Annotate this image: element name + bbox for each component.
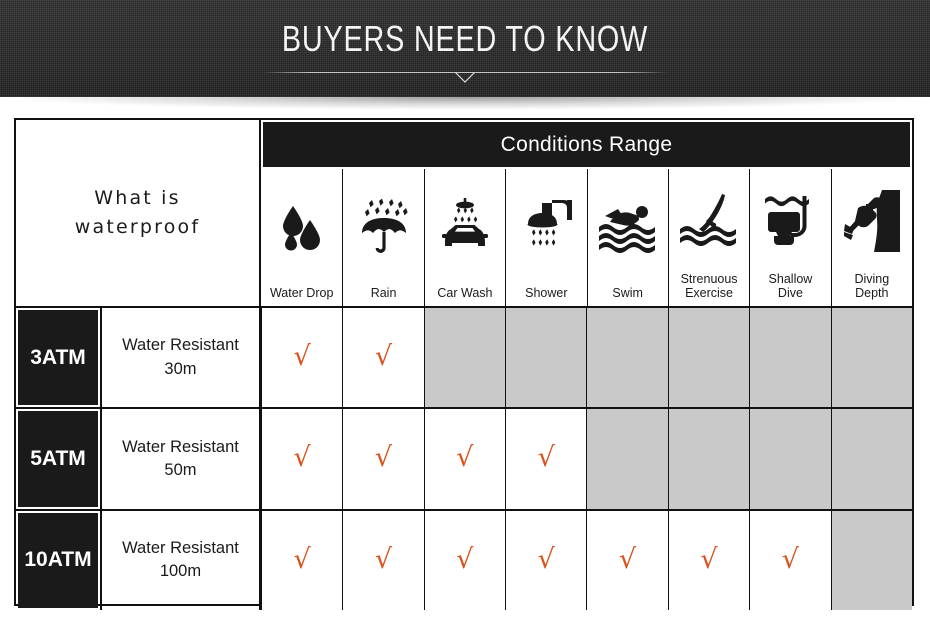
cell-3atm-diving-depth bbox=[831, 308, 912, 407]
row-header-line-2: waterproof bbox=[75, 216, 201, 238]
banner-shadow bbox=[0, 97, 930, 113]
cell-5atm-strenuous-exercise bbox=[668, 409, 749, 508]
cell-3atm-shallow-dive bbox=[749, 308, 830, 407]
resistance-description: Water Resistant 50m bbox=[100, 409, 261, 508]
check-icon: √ bbox=[294, 546, 311, 573]
column-header-shallow-dive: Shallow Dive bbox=[749, 169, 830, 306]
column-label-line-1: Water Drop bbox=[270, 286, 333, 300]
row-header-title-cell: What is waterproof bbox=[16, 120, 261, 306]
check-icon: √ bbox=[375, 343, 392, 370]
column-label-line-2: Dive bbox=[778, 286, 803, 300]
column-header-rain: Rain bbox=[342, 169, 423, 306]
column-label: Water Drop bbox=[270, 286, 333, 300]
cell-3atm-shower bbox=[505, 308, 586, 407]
cell-3atm-water-drop: √ bbox=[261, 308, 342, 407]
resistance-line-2: 100m bbox=[160, 562, 201, 580]
car-wash-icon bbox=[425, 169, 505, 286]
column-label-line-2: Depth bbox=[855, 286, 888, 300]
cell-10atm-shallow-dive: √ bbox=[749, 511, 830, 610]
row-header-line-1: What is bbox=[94, 187, 181, 209]
check-icon: √ bbox=[456, 546, 473, 573]
cell-5atm-diving-depth bbox=[831, 409, 912, 508]
water-drops-icon bbox=[261, 169, 342, 286]
cell-10atm-rain: √ bbox=[342, 511, 423, 610]
table-header: What is waterproof Conditions Range Wate… bbox=[16, 120, 912, 306]
column-header-diving-depth: Diving Depth bbox=[831, 169, 912, 306]
column-label-line-1: Rain bbox=[371, 286, 397, 300]
condition-columns: Water Drop bbox=[261, 169, 912, 306]
check-icon: √ bbox=[294, 444, 311, 471]
column-label: Swim bbox=[612, 286, 643, 300]
resistance-line-2: 50m bbox=[164, 461, 196, 479]
column-label: Diving Depth bbox=[854, 272, 889, 300]
rating-badge: 10ATM bbox=[18, 513, 98, 608]
cell-10atm-strenuous-exercise: √ bbox=[668, 511, 749, 610]
page-title: BUYERS NEED TO KNOW bbox=[93, 18, 837, 60]
column-label: Car Wash bbox=[437, 286, 492, 300]
column-label-line-2: Exercise bbox=[685, 286, 733, 300]
column-label-line-1: Diving bbox=[854, 272, 889, 286]
cell-5atm-water-drop: √ bbox=[261, 409, 342, 508]
cell-5atm-shallow-dive bbox=[749, 409, 830, 508]
resistance-line-1: Water Resistant bbox=[122, 438, 239, 456]
column-label-line-1: Shallow bbox=[769, 272, 813, 286]
check-icon: √ bbox=[538, 444, 555, 471]
rating-badge: 3ATM bbox=[18, 310, 98, 405]
cell-3atm-swim bbox=[586, 308, 667, 407]
cell-5atm-swim bbox=[586, 409, 667, 508]
page-banner: BUYERS NEED TO KNOW bbox=[0, 0, 930, 97]
cell-3atm-rain: √ bbox=[342, 308, 423, 407]
column-label-line-1: Strenuous bbox=[681, 272, 738, 286]
check-icon: √ bbox=[375, 546, 392, 573]
check-icon: √ bbox=[538, 546, 555, 573]
cell-5atm-shower: √ bbox=[505, 409, 586, 508]
cell-10atm-shower: √ bbox=[505, 511, 586, 610]
resistance-description: Water Resistant 100m bbox=[100, 511, 261, 610]
cell-10atm-diving-depth bbox=[831, 511, 912, 610]
cell-10atm-water-drop: √ bbox=[261, 511, 342, 610]
column-header-shower: Shower bbox=[505, 169, 586, 306]
resistance-line-1: Water Resistant bbox=[122, 336, 239, 354]
table-row: 3ATM Water Resistant 30m √ √ bbox=[16, 306, 912, 407]
scuba-diver-icon bbox=[832, 169, 912, 272]
waterproof-table: What is waterproof Conditions Range Wate… bbox=[14, 118, 914, 606]
column-label-line-1: Swim bbox=[612, 286, 643, 300]
cell-3atm-car-wash bbox=[424, 308, 505, 407]
chevron-down-icon bbox=[455, 72, 475, 83]
diving-swimmer-icon bbox=[669, 169, 749, 272]
check-icon: √ bbox=[619, 546, 636, 573]
check-icon: √ bbox=[700, 546, 717, 573]
column-header-strenuous-exercise: Strenuous Exercise bbox=[668, 169, 749, 306]
umbrella-rain-icon bbox=[343, 169, 423, 286]
column-header-water-drop: Water Drop bbox=[261, 169, 342, 306]
conditions-range-label: Conditions Range bbox=[501, 133, 673, 157]
check-icon: √ bbox=[782, 546, 799, 573]
snorkel-mask-icon bbox=[750, 169, 830, 272]
resistance-line-2: 30m bbox=[164, 360, 196, 378]
rating-badge: 5ATM bbox=[18, 411, 98, 506]
column-label: Shower bbox=[525, 286, 567, 300]
check-icon: √ bbox=[456, 444, 473, 471]
check-icon: √ bbox=[375, 444, 392, 471]
column-label-line-1: Shower bbox=[525, 286, 567, 300]
rating-cell: 10ATM bbox=[16, 511, 100, 610]
cell-10atm-car-wash: √ bbox=[424, 511, 505, 610]
table-body: 3ATM Water Resistant 30m √ √ 5ATM bbox=[16, 306, 912, 604]
resistance-line-1: Water Resistant bbox=[122, 539, 239, 557]
cell-5atm-car-wash: √ bbox=[424, 409, 505, 508]
table-row: 10ATM Water Resistant 100m √ √ √ √ √ √ √ bbox=[16, 509, 912, 610]
cell-5atm-rain: √ bbox=[342, 409, 423, 508]
column-label: Strenuous Exercise bbox=[681, 272, 738, 300]
check-icon: √ bbox=[294, 343, 311, 370]
column-header-swim: Swim bbox=[587, 169, 668, 306]
table-row: 5ATM Water Resistant 50m √ √ √ √ bbox=[16, 407, 912, 508]
column-header-car-wash: Car Wash bbox=[424, 169, 505, 306]
column-label-line-1: Car Wash bbox=[437, 286, 492, 300]
shower-head-icon bbox=[506, 169, 586, 286]
swimmer-icon bbox=[588, 169, 668, 286]
column-label: Rain bbox=[371, 286, 397, 300]
rating-cell: 5ATM bbox=[16, 409, 100, 508]
cell-3atm-strenuous-exercise bbox=[668, 308, 749, 407]
cell-10atm-swim: √ bbox=[586, 511, 667, 610]
conditions-range-header: Conditions Range bbox=[261, 120, 912, 169]
column-label: Shallow Dive bbox=[769, 272, 813, 300]
resistance-description: Water Resistant 30m bbox=[100, 308, 261, 407]
rating-cell: 3ATM bbox=[16, 308, 100, 407]
